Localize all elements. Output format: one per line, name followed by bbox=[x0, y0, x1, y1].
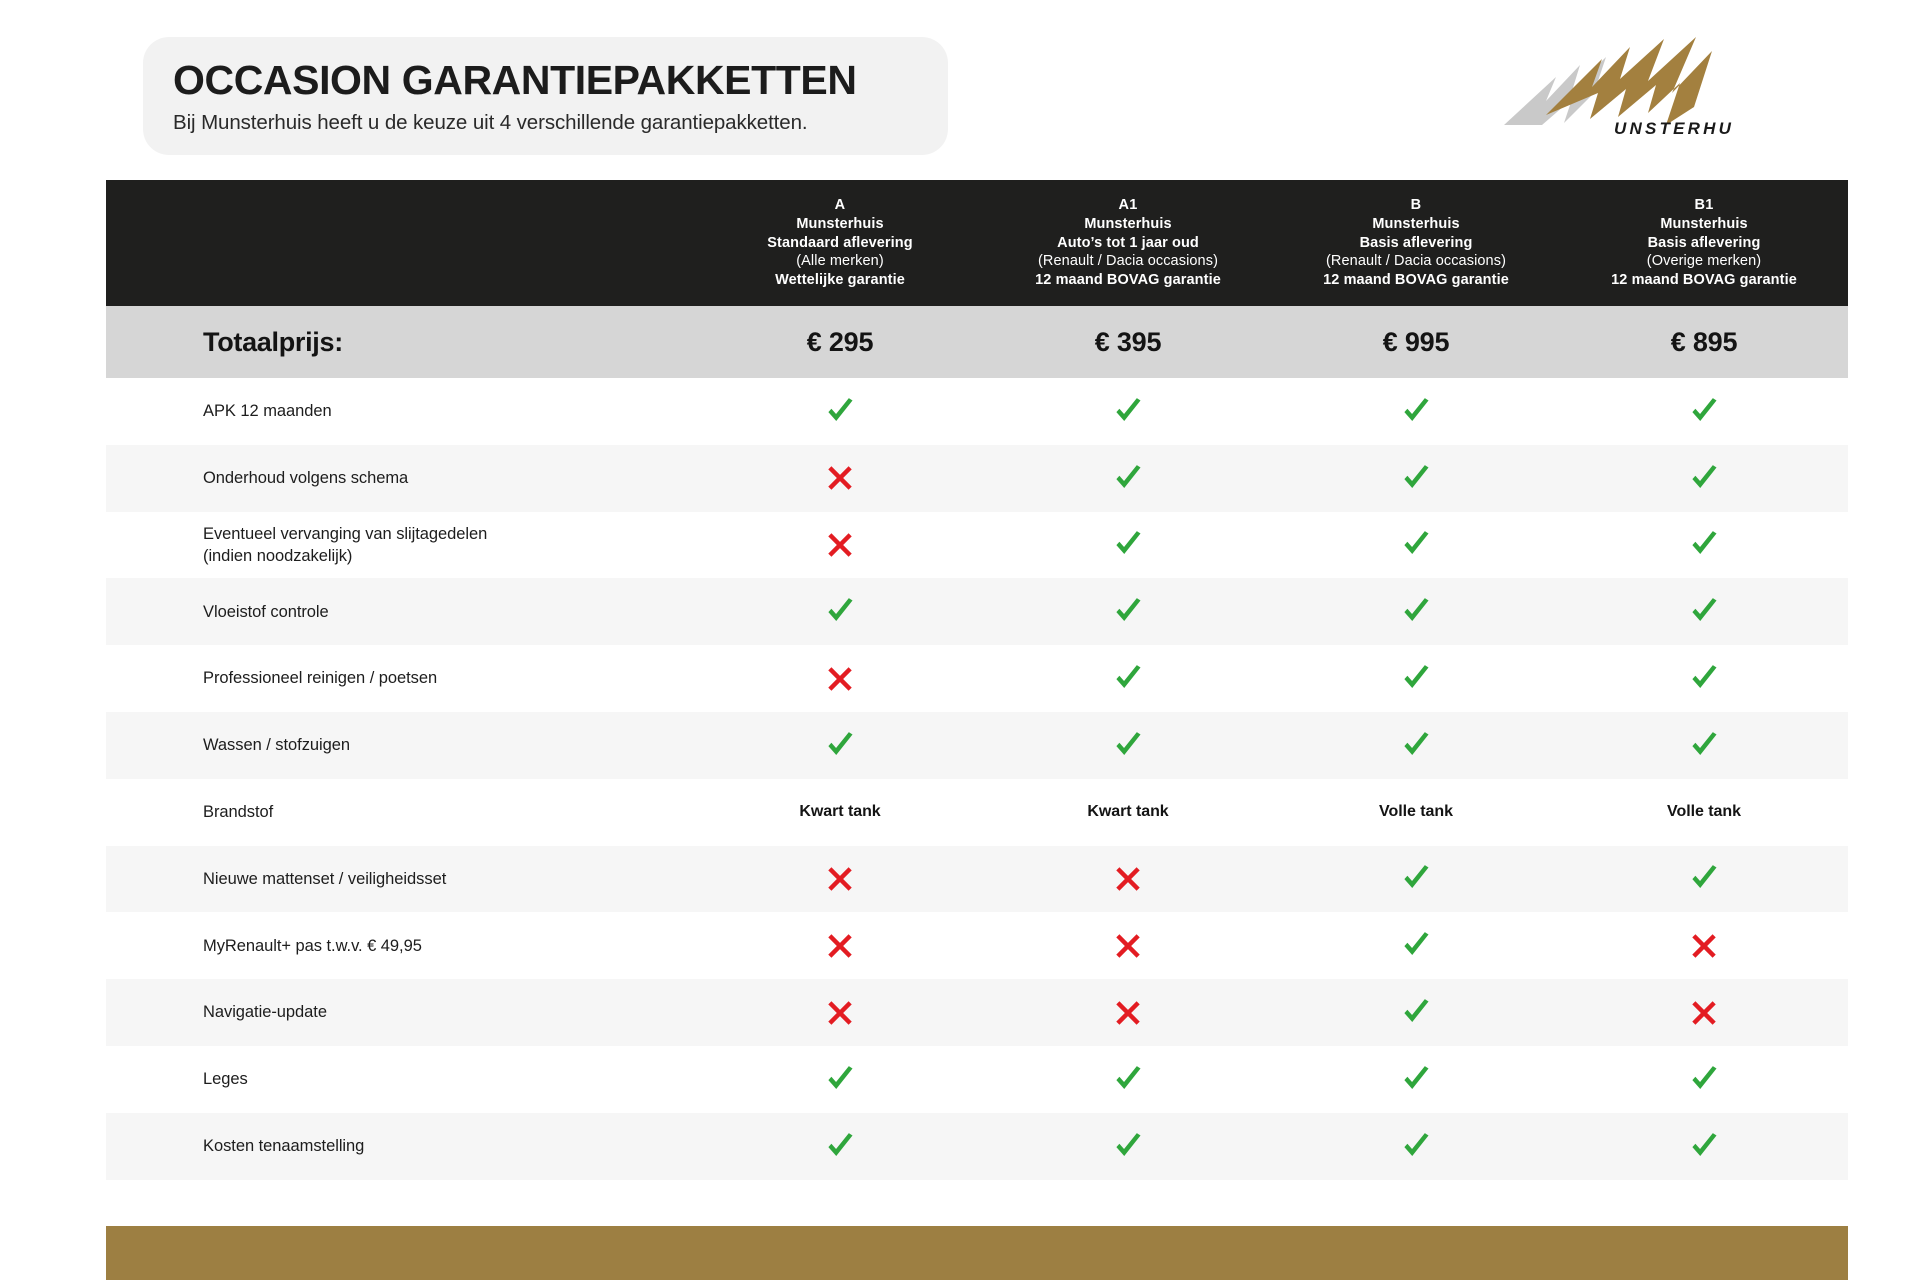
logo-wordmark: UNSTERHUIS bbox=[1614, 119, 1733, 138]
check-icon bbox=[1113, 596, 1144, 627]
cell-excluded bbox=[1560, 912, 1848, 979]
price-value: € 395 bbox=[1095, 327, 1162, 358]
cell-included bbox=[1272, 445, 1560, 512]
check-icon bbox=[1689, 863, 1720, 894]
cell-excluded bbox=[984, 979, 1272, 1046]
table-row: Kosten tenaamstelling bbox=[106, 1113, 1848, 1180]
cell-included bbox=[1560, 512, 1848, 579]
check-icon bbox=[1401, 930, 1432, 961]
row-label-cell: Onderhoud volgens schema bbox=[106, 445, 696, 512]
cell-included bbox=[1272, 712, 1560, 779]
row-label-cell: APK 12 maanden bbox=[106, 378, 696, 445]
cell-included bbox=[1272, 378, 1560, 445]
column-code: A1 bbox=[1119, 196, 1138, 215]
check-icon bbox=[825, 1064, 856, 1095]
column-code: A bbox=[835, 196, 846, 215]
cross-icon bbox=[826, 464, 854, 492]
column-code: B1 bbox=[1695, 196, 1714, 215]
cross-icon bbox=[826, 531, 854, 559]
cell-included bbox=[1272, 979, 1560, 1046]
cell-value: Kwart tank bbox=[799, 803, 880, 821]
table-row: APK 12 maanden bbox=[106, 378, 1848, 445]
total-price-label-cell: Totaalprijs: bbox=[106, 306, 696, 378]
check-icon bbox=[1113, 396, 1144, 427]
column-header-a1: A1 Munsterhuis Auto’s tot 1 jaar oud (Re… bbox=[984, 180, 1272, 306]
cross-icon bbox=[826, 999, 854, 1027]
column-warranty: 12 maand BOVAG garantie bbox=[1611, 271, 1797, 290]
page-subtitle: Bij Munsterhuis heeft u de keuze uit 4 v… bbox=[173, 111, 948, 135]
cell-excluded bbox=[696, 645, 984, 712]
row-label-cell: MyRenault+ pas t.w.v. € 49,95 bbox=[106, 912, 696, 979]
check-icon bbox=[1401, 1064, 1432, 1095]
cell-included bbox=[1272, 512, 1560, 579]
cell-included bbox=[1560, 1046, 1848, 1113]
check-icon bbox=[1689, 1064, 1720, 1095]
table-row: Eventueel vervanging van slijtagedelen(i… bbox=[106, 512, 1848, 579]
check-icon bbox=[1401, 596, 1432, 627]
row-label: Kosten tenaamstelling bbox=[203, 1135, 364, 1157]
cell-text-value: Volle tank bbox=[1272, 779, 1560, 846]
check-icon bbox=[1689, 596, 1720, 627]
table-row: BrandstofKwart tankKwart tankVolle tankV… bbox=[106, 779, 1848, 846]
column-header-b1: B1 Munsterhuis Basis aflevering (Overige… bbox=[1560, 180, 1848, 306]
cell-excluded bbox=[1560, 979, 1848, 1046]
check-icon bbox=[1689, 663, 1720, 694]
cell-included bbox=[1560, 712, 1848, 779]
column-brand: Munsterhuis bbox=[1660, 215, 1747, 234]
cell-value: Volle tank bbox=[1379, 803, 1453, 821]
row-label: Eventueel vervanging van slijtagedelen(i… bbox=[203, 523, 487, 568]
cross-icon bbox=[826, 665, 854, 693]
cell-value: Kwart tank bbox=[1087, 803, 1168, 821]
cell-included bbox=[1272, 645, 1560, 712]
column-warranty: 12 maand BOVAG garantie bbox=[1323, 271, 1509, 290]
cell-included bbox=[1272, 912, 1560, 979]
cell-included bbox=[984, 645, 1272, 712]
cell-excluded bbox=[696, 912, 984, 979]
table-row: Vloeistof controle bbox=[106, 578, 1848, 645]
row-label-cell: Wassen / stofzuigen bbox=[106, 712, 696, 779]
table-row: Wassen / stofzuigen bbox=[106, 712, 1848, 779]
column-brand: Munsterhuis bbox=[796, 215, 883, 234]
total-price-label: Totaalprijs: bbox=[203, 327, 343, 358]
cell-included bbox=[984, 578, 1272, 645]
row-label: Professioneel reinigen / poetsen bbox=[203, 667, 437, 689]
header-empty-cell bbox=[106, 180, 696, 306]
row-label: Leges bbox=[203, 1068, 248, 1090]
row-label: Vloeistof controle bbox=[203, 601, 329, 623]
check-icon bbox=[1113, 730, 1144, 761]
cross-icon bbox=[1114, 999, 1142, 1027]
cell-included bbox=[1272, 1113, 1560, 1180]
table-row: MyRenault+ pas t.w.v. € 49,95 bbox=[106, 912, 1848, 979]
column-header-b: B Munsterhuis Basis aflevering (Renault … bbox=[1272, 180, 1560, 306]
check-icon bbox=[1401, 1131, 1432, 1162]
cross-icon bbox=[1690, 999, 1718, 1027]
column-brand: Munsterhuis bbox=[1084, 215, 1171, 234]
total-price-row: Totaalprijs: € 295 € 395 € 995 € 895 bbox=[106, 306, 1848, 378]
cell-text-value: Volle tank bbox=[1560, 779, 1848, 846]
cell-included bbox=[1560, 645, 1848, 712]
cell-included bbox=[984, 378, 1272, 445]
cell-included bbox=[1272, 846, 1560, 913]
cell-included bbox=[1560, 445, 1848, 512]
check-icon bbox=[825, 596, 856, 627]
row-label: Navigatie-update bbox=[203, 1001, 327, 1023]
cell-text-value: Kwart tank bbox=[984, 779, 1272, 846]
feature-rows-container: APK 12 maandenOnderhoud volgens schemaEv… bbox=[106, 378, 1848, 1180]
column-type: Basis aflevering bbox=[1648, 234, 1761, 253]
price-cell-a: € 295 bbox=[696, 306, 984, 378]
cell-value: Volle tank bbox=[1667, 803, 1741, 821]
column-warranty: 12 maand BOVAG garantie bbox=[1035, 271, 1221, 290]
check-icon bbox=[1689, 463, 1720, 494]
price-cell-a1: € 395 bbox=[984, 306, 1272, 378]
cell-included bbox=[696, 1046, 984, 1113]
cell-included bbox=[1560, 578, 1848, 645]
column-scope: (Alle merken) bbox=[796, 252, 884, 271]
footer-gold-bar bbox=[106, 1226, 1848, 1280]
cell-included bbox=[696, 578, 984, 645]
check-icon bbox=[1113, 1064, 1144, 1095]
row-label-cell: Leges bbox=[106, 1046, 696, 1113]
title-card: OCCASION GARANTIEPAKKETTEN Bij Munsterhu… bbox=[143, 37, 948, 155]
row-label-cell: Brandstof bbox=[106, 779, 696, 846]
cell-included bbox=[1560, 846, 1848, 913]
check-icon bbox=[1113, 463, 1144, 494]
row-label-cell: Vloeistof controle bbox=[106, 578, 696, 645]
table-row: Nieuwe mattenset / veiligheidsset bbox=[106, 846, 1848, 913]
check-icon bbox=[1401, 730, 1432, 761]
check-icon bbox=[1113, 663, 1144, 694]
check-icon bbox=[1401, 863, 1432, 894]
cell-included bbox=[1272, 578, 1560, 645]
column-type: Auto’s tot 1 jaar oud bbox=[1057, 234, 1199, 253]
cell-included bbox=[984, 445, 1272, 512]
garantiepakketten-table: A Munsterhuis Standaard aflevering (Alle… bbox=[106, 180, 1848, 1180]
row-label: MyRenault+ pas t.w.v. € 49,95 bbox=[203, 935, 422, 957]
row-label-cell: Professioneel reinigen / poetsen bbox=[106, 645, 696, 712]
check-icon bbox=[825, 396, 856, 427]
check-icon bbox=[1401, 396, 1432, 427]
cell-included bbox=[984, 1113, 1272, 1180]
check-icon bbox=[1401, 663, 1432, 694]
column-scope: (Renault / Dacia occasions) bbox=[1038, 252, 1218, 271]
table-header-row: A Munsterhuis Standaard aflevering (Alle… bbox=[106, 180, 1848, 306]
column-brand: Munsterhuis bbox=[1372, 215, 1459, 234]
cell-included bbox=[1272, 1046, 1560, 1113]
column-header-a: A Munsterhuis Standaard aflevering (Alle… bbox=[696, 180, 984, 306]
logo-mark-icon: UNSTERHUIS bbox=[1498, 35, 1733, 140]
table-row: Professioneel reinigen / poetsen bbox=[106, 645, 1848, 712]
cell-text-value: Kwart tank bbox=[696, 779, 984, 846]
cell-included bbox=[1560, 378, 1848, 445]
row-label-cell: Kosten tenaamstelling bbox=[106, 1113, 696, 1180]
check-icon bbox=[1689, 396, 1720, 427]
munsterhuis-logo: UNSTERHUIS bbox=[1498, 35, 1733, 140]
row-label-cell: Navigatie-update bbox=[106, 979, 696, 1046]
check-icon bbox=[1401, 997, 1432, 1028]
price-cell-b1: € 895 bbox=[1560, 306, 1848, 378]
row-label: APK 12 maanden bbox=[203, 400, 332, 422]
check-icon bbox=[1401, 463, 1432, 494]
check-icon bbox=[1689, 730, 1720, 761]
price-value: € 995 bbox=[1383, 327, 1450, 358]
row-label: Brandstof bbox=[203, 801, 273, 823]
price-value: € 295 bbox=[807, 327, 874, 358]
check-icon bbox=[1689, 529, 1720, 560]
cell-excluded bbox=[696, 979, 984, 1046]
check-icon bbox=[1401, 529, 1432, 560]
cell-excluded bbox=[696, 512, 984, 579]
column-code: B bbox=[1411, 196, 1422, 215]
table-row: Leges bbox=[106, 1046, 1848, 1113]
cell-included bbox=[984, 1046, 1272, 1113]
row-label: Onderhoud volgens schema bbox=[203, 467, 408, 489]
cell-included bbox=[984, 512, 1272, 579]
cell-included bbox=[696, 712, 984, 779]
row-label-cell: Eventueel vervanging van slijtagedelen(i… bbox=[106, 512, 696, 579]
column-warranty: Wettelijke garantie bbox=[775, 271, 905, 290]
cell-included bbox=[1560, 1113, 1848, 1180]
cross-icon bbox=[1114, 865, 1142, 893]
column-scope: (Renault / Dacia occasions) bbox=[1326, 252, 1506, 271]
page-title: OCCASION GARANTIEPAKKETTEN bbox=[173, 59, 948, 102]
table-row: Onderhoud volgens schema bbox=[106, 445, 1848, 512]
check-icon bbox=[1689, 1131, 1720, 1162]
price-value: € 895 bbox=[1671, 327, 1738, 358]
column-type: Standaard aflevering bbox=[767, 234, 912, 253]
cell-excluded bbox=[984, 912, 1272, 979]
check-icon bbox=[825, 730, 856, 761]
cell-included bbox=[696, 1113, 984, 1180]
check-icon bbox=[1113, 1131, 1144, 1162]
row-label: Nieuwe mattenset / veiligheidsset bbox=[203, 868, 446, 890]
cross-icon bbox=[826, 932, 854, 960]
cell-included bbox=[984, 712, 1272, 779]
cross-icon bbox=[1114, 932, 1142, 960]
cell-included bbox=[696, 378, 984, 445]
row-label: Wassen / stofzuigen bbox=[203, 734, 350, 756]
row-label-cell: Nieuwe mattenset / veiligheidsset bbox=[106, 846, 696, 913]
table-row: Navigatie-update bbox=[106, 979, 1848, 1046]
price-cell-b: € 995 bbox=[1272, 306, 1560, 378]
cell-excluded bbox=[984, 846, 1272, 913]
check-icon bbox=[1113, 529, 1144, 560]
cell-excluded bbox=[696, 445, 984, 512]
check-icon bbox=[825, 1131, 856, 1162]
column-type: Basis aflevering bbox=[1360, 234, 1473, 253]
cross-icon bbox=[1690, 932, 1718, 960]
column-scope: (Overige merken) bbox=[1647, 252, 1761, 271]
cross-icon bbox=[826, 865, 854, 893]
cell-excluded bbox=[696, 846, 984, 913]
